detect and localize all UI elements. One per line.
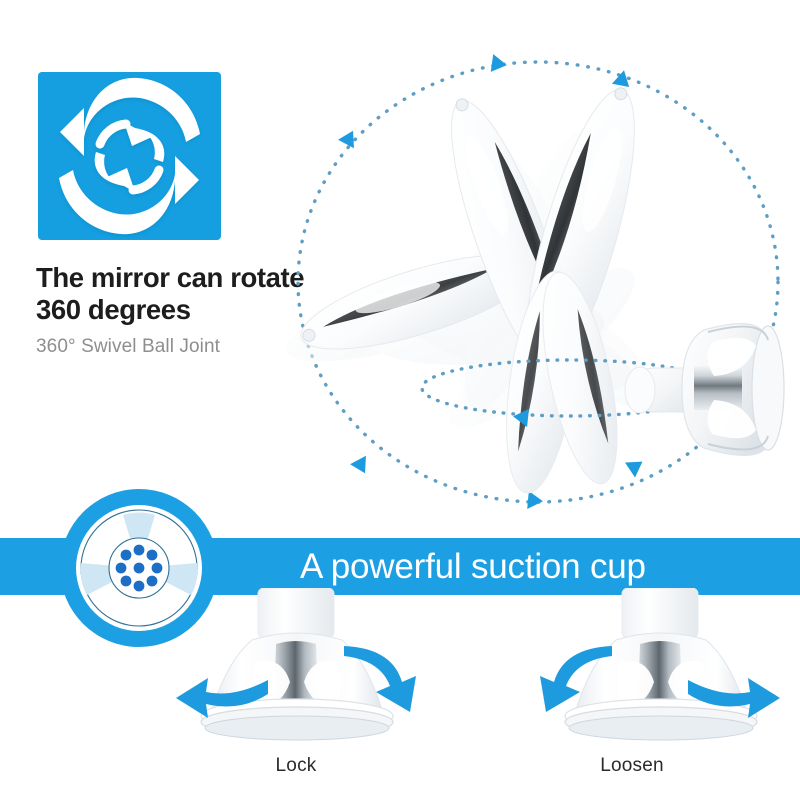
suction-cup-loosen [478, 588, 800, 743]
cup-caption-loosen: Loosen [532, 755, 732, 777]
cup-caption-lock: Lock [196, 755, 396, 777]
rotate-360-icon [38, 72, 221, 240]
product-illustration [280, 30, 800, 520]
suction-cup-lock [148, 588, 478, 743]
infographic-page: The mirror can rotate 360 degrees 360° S… [0, 0, 800, 800]
banner-title: A powerful suction cup [300, 538, 720, 595]
